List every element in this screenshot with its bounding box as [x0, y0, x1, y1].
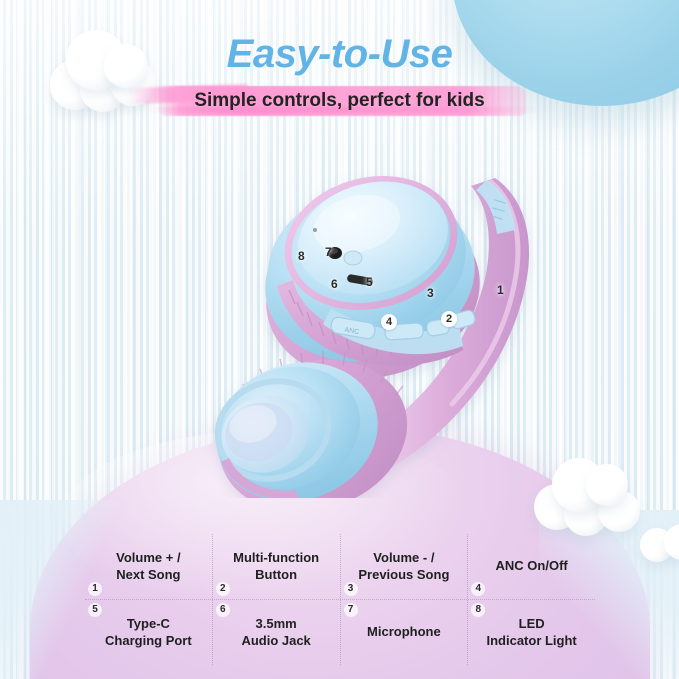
- product-callout-5: 5: [366, 275, 373, 289]
- legend-number-7: 7: [344, 603, 358, 617]
- product-callout-2: 2: [441, 311, 457, 327]
- legend-cell-3: 3 Volume - / Previous Song: [340, 534, 468, 599]
- product-callout-7: 7: [325, 245, 332, 259]
- legend-number-6: 6: [216, 603, 230, 617]
- legend-label-5: Type-C Charging Port: [105, 616, 192, 649]
- legend-cell-1: 1 Volume + / Next Song: [85, 534, 212, 599]
- product-callout-1: 1: [497, 283, 504, 297]
- legend-cell-8: 8 LED Indicator Light: [467, 600, 595, 665]
- product-callout-8: 8: [298, 249, 305, 263]
- legend-label-6: 3.5mm Audio Jack: [241, 616, 310, 649]
- feature-legend-table: 1 Volume + / Next Song 2 Multi-function …: [85, 534, 595, 664]
- legend-cell-2: 2 Multi-function Button: [212, 534, 340, 599]
- legend-row-bottom: 5 Type-C Charging Port 6 3.5mm Audio Jac…: [85, 600, 595, 665]
- legend-number-2: 2: [216, 582, 230, 596]
- legend-cell-6: 6 3.5mm Audio Jack: [212, 600, 340, 665]
- legend-cell-7: 7 Microphone: [340, 600, 468, 665]
- legend-number-1: 1: [88, 582, 102, 596]
- legend-cell-5: 5 Type-C Charging Port: [85, 600, 212, 665]
- legend-number-5: 5: [88, 603, 102, 617]
- legend-label-1: Volume + / Next Song: [116, 550, 180, 583]
- headphones-product-image: ANC: [195, 138, 555, 498]
- legend-number-8: 8: [471, 603, 485, 617]
- page-subtitle: Simple controls, perfect for kids: [194, 86, 484, 116]
- product-callout-3: 3: [427, 286, 434, 300]
- product-callout-4: 4: [381, 314, 397, 330]
- promo-image: Easy-to-Use Simple controls, perfect for…: [0, 0, 679, 679]
- legend-number-3: 3: [344, 582, 358, 596]
- subtitle-container: Simple controls, perfect for kids: [0, 86, 679, 120]
- legend-label-3: Volume - / Previous Song: [358, 550, 449, 583]
- legend-row-top: 1 Volume + / Next Song 2 Multi-function …: [85, 534, 595, 600]
- legend-label-7: Microphone: [367, 624, 441, 640]
- legend-number-4: 4: [471, 582, 485, 596]
- legend-label-4: ANC On/Off: [496, 558, 568, 574]
- legend-label-8: LED Indicator Light: [486, 616, 576, 649]
- product-callout-6: 6: [331, 277, 338, 291]
- legend-label-2: Multi-function Button: [233, 550, 319, 583]
- legend-cell-4: 4 ANC On/Off: [467, 534, 595, 599]
- cloud-icon-right-edge: [640, 516, 679, 566]
- page-title: Easy-to-Use: [0, 32, 679, 77]
